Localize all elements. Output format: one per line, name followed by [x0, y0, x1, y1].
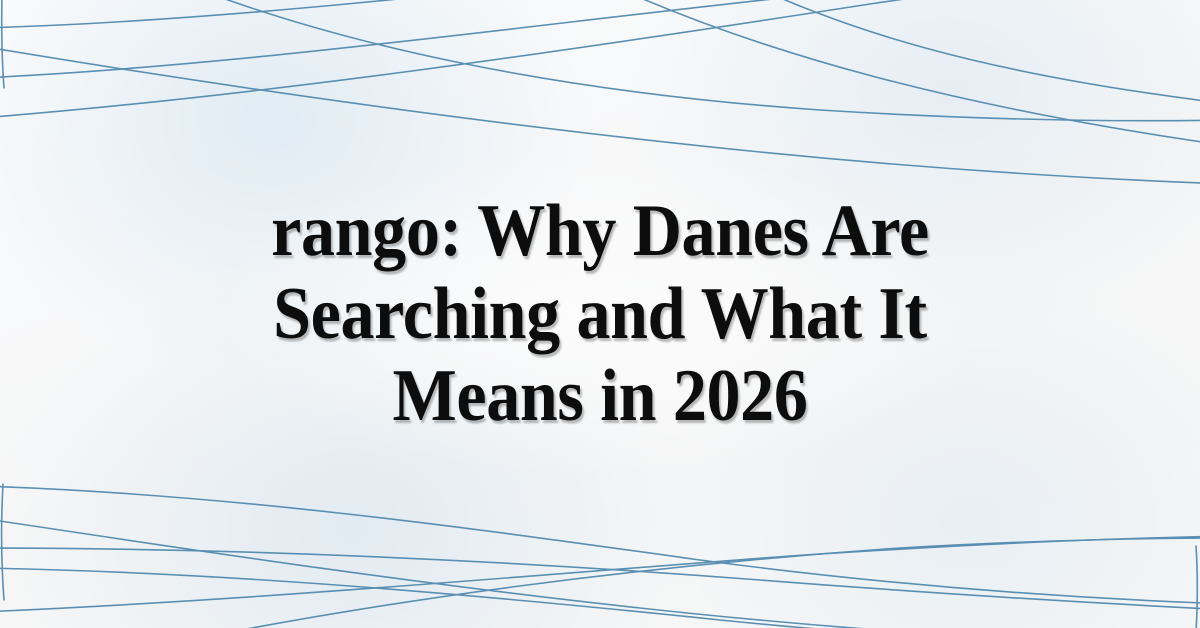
title-container: rango: Why Danes Are Searching and What …: [0, 0, 1200, 628]
page-title: rango: Why Danes Are Searching and What …: [260, 190, 941, 439]
article-hero-card: rango: Why Danes Are Searching and What …: [0, 0, 1200, 628]
